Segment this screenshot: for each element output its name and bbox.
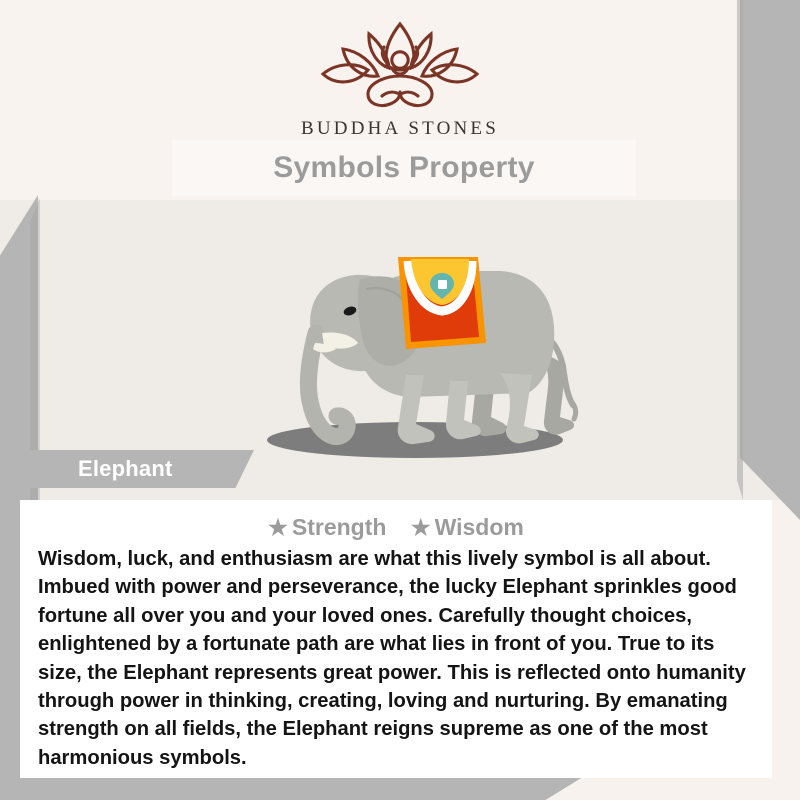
symbol-description: Wisdom, luck, and enthusiasm are what th… bbox=[38, 545, 754, 772]
attribute-strength: ★Strength bbox=[268, 514, 386, 541]
infographic-canvas: BUDDHA STONES Symbols Property bbox=[0, 0, 800, 800]
symbol-illustration bbox=[210, 215, 610, 485]
attribute-wisdom: ★Wisdom bbox=[411, 514, 524, 541]
page-title: Symbols Property bbox=[273, 151, 535, 185]
star-icon: ★ bbox=[411, 515, 431, 540]
attributes-row: ★Strength ★Wisdom bbox=[20, 500, 772, 541]
brand-name: BUDDHA STONES bbox=[0, 118, 800, 140]
walking-elephant-illustration bbox=[210, 215, 610, 485]
lotus-meditation-icon bbox=[310, 18, 490, 114]
symbol-name: Elephant bbox=[78, 456, 173, 482]
attribute-wisdom-label: Wisdom bbox=[435, 514, 524, 540]
content-panel: ★Strength ★Wisdom Wisdom, luck, and enth… bbox=[20, 500, 772, 778]
symbol-name-ribbon: Elephant bbox=[22, 450, 254, 488]
star-icon: ★ bbox=[268, 515, 288, 540]
title-banner: Symbols Property bbox=[172, 140, 636, 196]
saddle-gem-center bbox=[438, 280, 447, 289]
brand-logo: BUDDHA STONES bbox=[0, 18, 800, 140]
attribute-strength-label: Strength bbox=[292, 514, 387, 540]
